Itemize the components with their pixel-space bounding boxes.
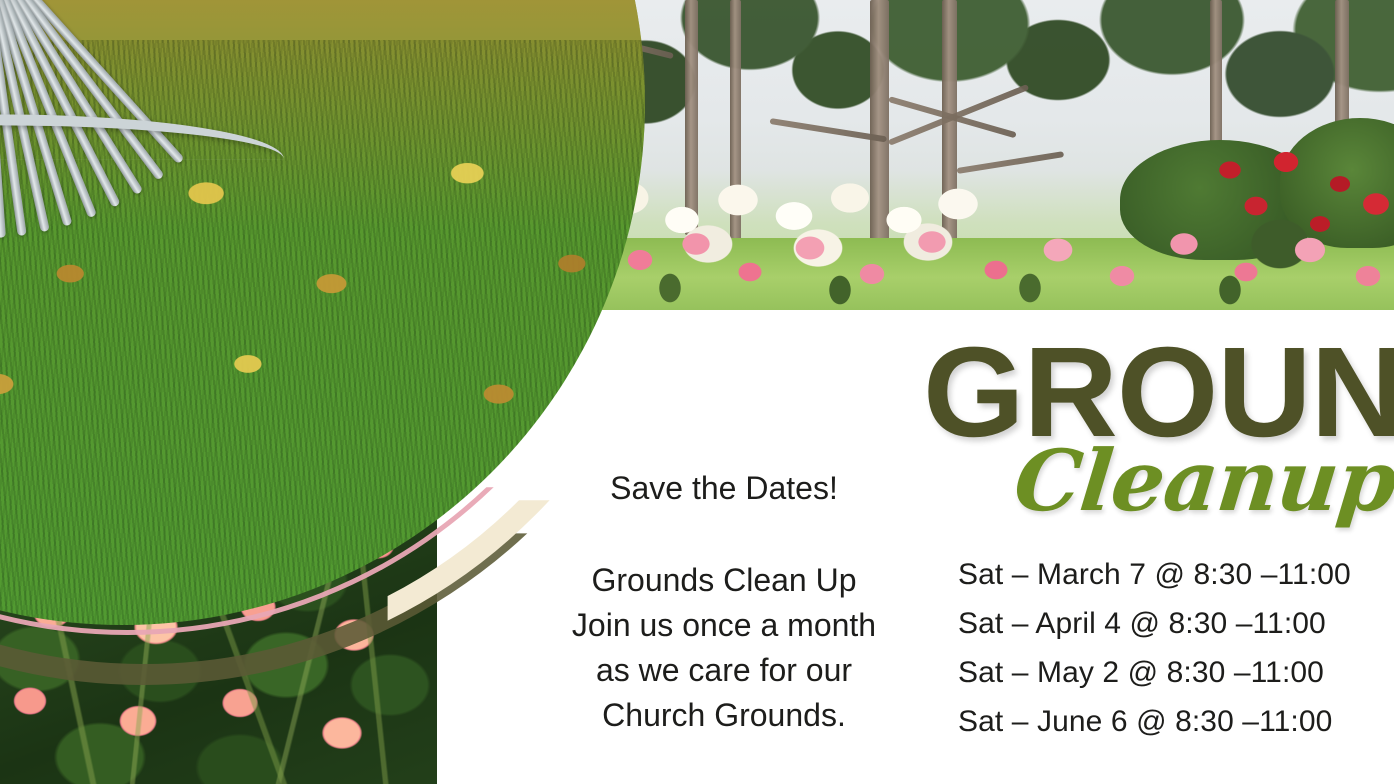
date-item: Sat – March 7 @ 8:30 –11:00: [958, 550, 1378, 599]
headline-block: GROUNDS Cleanup: [905, 337, 1375, 557]
body-copy-line: as we care for our: [528, 648, 920, 693]
headline-cleanup: Cleanup: [1010, 437, 1394, 525]
dates-list: Sat – March 7 @ 8:30 –11:00 Sat – April …: [958, 550, 1378, 746]
flyer-canvas: GROUNDS Cleanup Sat – March 7 @ 8:30 –11…: [0, 0, 1394, 784]
pink-rose-bed: [610, 220, 1394, 306]
body-copy-line: Grounds Clean Up: [528, 558, 920, 603]
date-item: Sat – May 2 @ 8:30 –11:00: [958, 648, 1378, 697]
center-copy-block: Save the Dates! Grounds Clean Up Join us…: [528, 468, 920, 738]
body-copy-line: Church Grounds.: [528, 693, 920, 738]
save-the-dates-text: Save the Dates!: [528, 468, 920, 508]
body-copy-line: Join us once a month: [528, 603, 920, 648]
body-copy: Grounds Clean Up Join us once a month as…: [528, 558, 920, 738]
date-item: Sat – April 4 @ 8:30 –11:00: [958, 599, 1378, 648]
date-item: Sat – June 6 @ 8:30 –11:00: [958, 697, 1378, 746]
